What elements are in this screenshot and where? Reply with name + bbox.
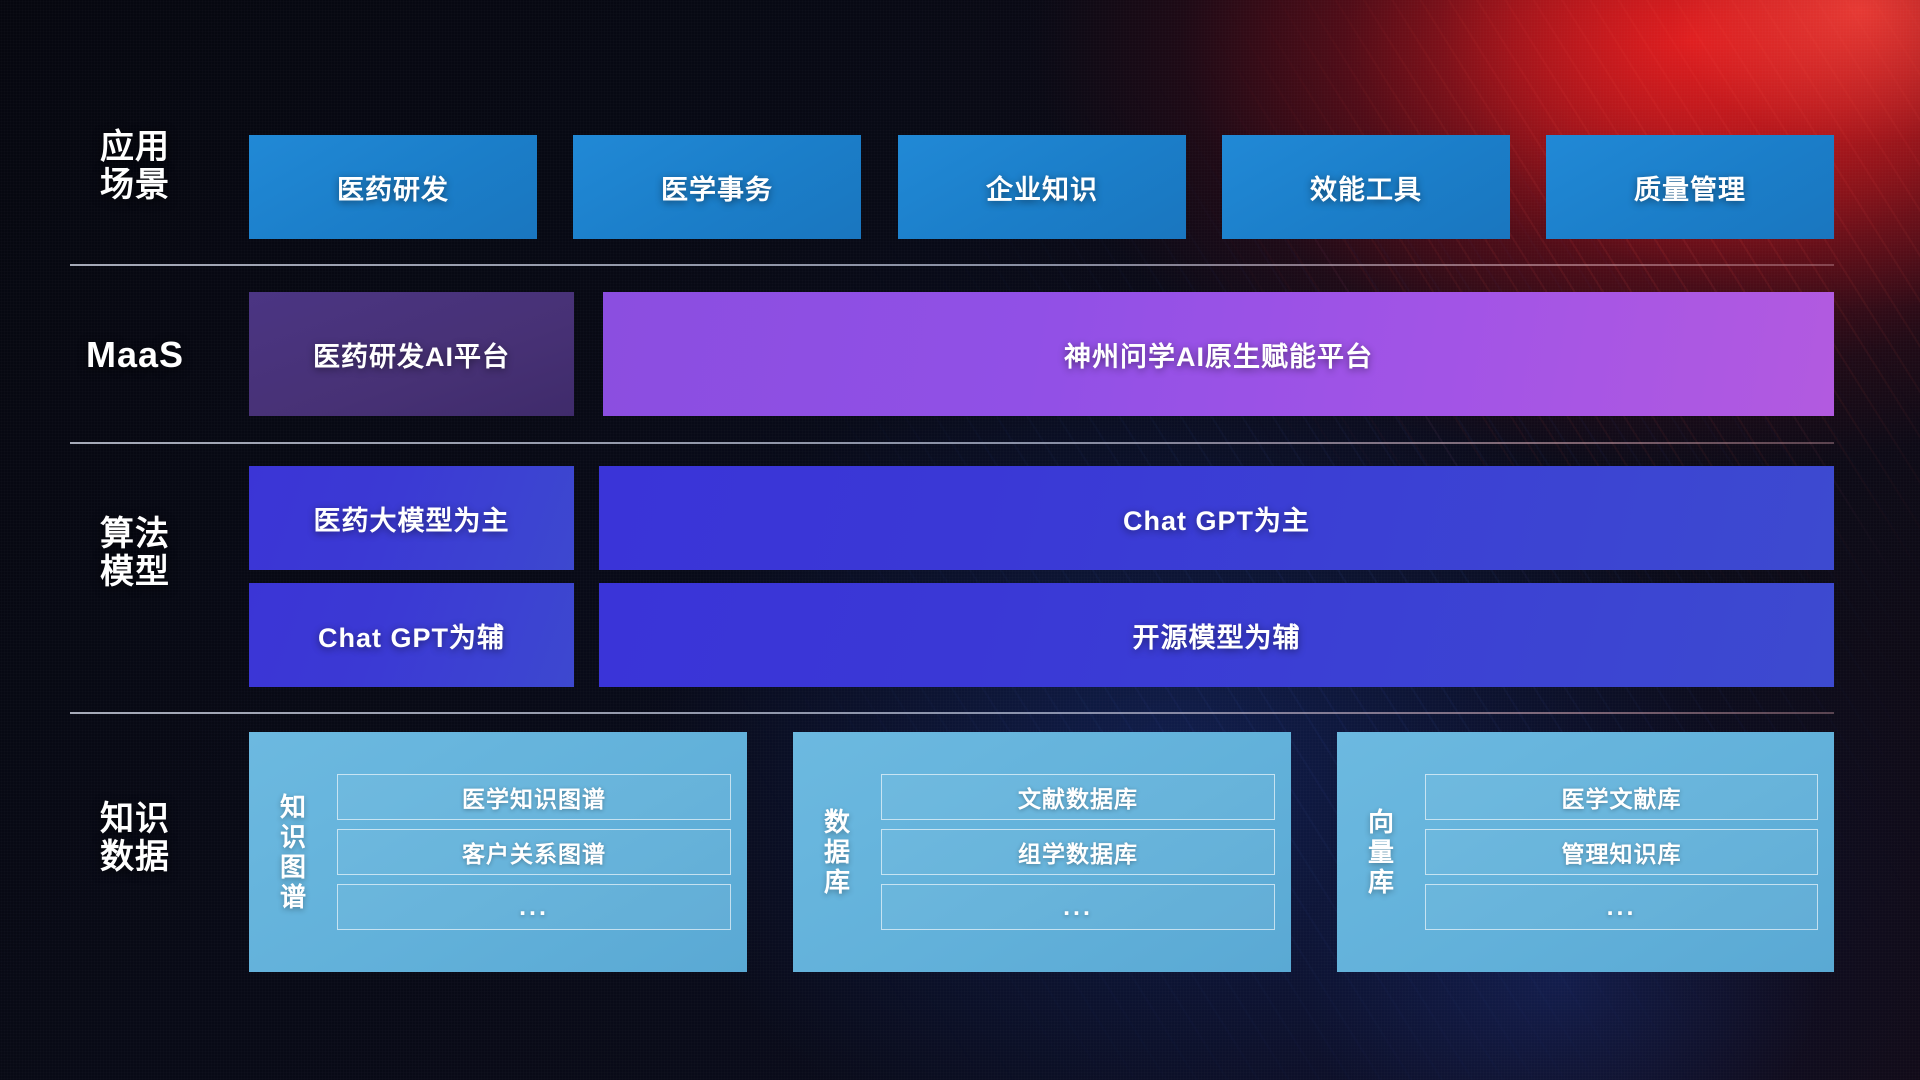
- knowledge-group-label: 知 识 图 谱: [249, 792, 337, 913]
- knowledge-item[interactable]: 组学数据库: [881, 829, 1275, 875]
- knowledge-group-label-line: 库: [793, 867, 881, 897]
- maas-left-platform-label: 医药研发AI平台: [313, 335, 510, 374]
- knowledge-item[interactable]: 医学文献库: [1425, 774, 1818, 820]
- algo-label: 医药大模型为主: [314, 499, 510, 538]
- app-scenario-label: 企业知识: [986, 168, 1098, 207]
- knowledge-group-label-line: 识: [249, 822, 337, 852]
- algo-row2-right-box[interactable]: 开源模型为辅: [599, 583, 1834, 687]
- tier-label-line: 应用: [70, 128, 200, 166]
- divider-1: [70, 264, 1834, 266]
- algo-label: Chat GPT为辅: [318, 616, 505, 655]
- knowledge-group-label-line: 据: [793, 837, 881, 867]
- architecture-diagram: 应用 场景 医药研发 医学事务 企业知识 效能工具 质量管理 MaaS 医药研发…: [0, 0, 1920, 1080]
- app-scenario-box-1[interactable]: 医药研发: [249, 135, 537, 239]
- knowledge-item[interactable]: 医学知识图谱: [337, 774, 731, 820]
- knowledge-group-label-line: 谱: [249, 882, 337, 912]
- knowledge-item[interactable]: 客户关系图谱: [337, 829, 731, 875]
- tier-label-application-scenarios: 应用 场景: [70, 128, 200, 204]
- tier-label-maas: MaaS: [70, 335, 200, 375]
- app-scenario-box-4[interactable]: 效能工具: [1222, 135, 1510, 239]
- knowledge-item[interactable]: 文献数据库: [881, 774, 1275, 820]
- app-scenario-label: 质量管理: [1634, 168, 1746, 207]
- maas-main-platform-label: 神州问学AI原生赋能平台: [1064, 335, 1373, 374]
- app-scenario-box-2[interactable]: 医学事务: [573, 135, 861, 239]
- divider-2: [70, 442, 1834, 444]
- knowledge-group-database[interactable]: 数 据 库 文献数据库 组学数据库 ...: [793, 732, 1291, 972]
- app-scenario-label: 效能工具: [1310, 168, 1422, 207]
- app-scenario-box-5[interactable]: 质量管理: [1546, 135, 1834, 239]
- tier-label-line: 数据: [70, 838, 200, 876]
- app-scenario-box-3[interactable]: 企业知识: [898, 135, 1186, 239]
- tier-label-knowledge-data: 知识 数据: [70, 800, 200, 876]
- knowledge-group-label-line: 库: [1337, 867, 1425, 897]
- divider-3: [70, 712, 1834, 714]
- algo-row1-right-box[interactable]: Chat GPT为主: [599, 466, 1834, 570]
- knowledge-group-label-line: 知: [249, 792, 337, 822]
- tier-label-line: 算法: [70, 515, 200, 553]
- knowledge-group-label: 向 量 库: [1337, 807, 1425, 897]
- maas-left-platform-box[interactable]: 医药研发AI平台: [249, 292, 574, 416]
- knowledge-group-label-line: 量: [1337, 837, 1425, 867]
- knowledge-group-items: 文献数据库 组学数据库 ...: [881, 774, 1279, 930]
- knowledge-item-more[interactable]: ...: [337, 884, 731, 930]
- tier-label-line: 场景: [70, 166, 200, 204]
- tier-label-algorithm-models: 算法 模型: [70, 515, 200, 591]
- algo-label: Chat GPT为主: [1123, 499, 1310, 538]
- knowledge-group-items: 医学知识图谱 客户关系图谱 ...: [337, 774, 735, 930]
- maas-main-platform-box[interactable]: 神州问学AI原生赋能平台: [603, 292, 1834, 416]
- algo-row1-left-box[interactable]: 医药大模型为主: [249, 466, 574, 570]
- knowledge-group-label: 数 据 库: [793, 807, 881, 897]
- knowledge-item[interactable]: 管理知识库: [1425, 829, 1818, 875]
- tier-label-line: 知识: [70, 800, 200, 838]
- knowledge-group-label-line: 向: [1337, 807, 1425, 837]
- knowledge-group-label-line: 数: [793, 807, 881, 837]
- knowledge-group-knowledge-graph[interactable]: 知 识 图 谱 医学知识图谱 客户关系图谱 ...: [249, 732, 747, 972]
- app-scenario-label: 医药研发: [337, 168, 449, 207]
- tier-label-line: MaaS: [70, 335, 200, 375]
- knowledge-group-vector-database[interactable]: 向 量 库 医学文献库 管理知识库 ...: [1337, 732, 1834, 972]
- tier-label-line: 模型: [70, 553, 200, 591]
- knowledge-group-label-line: 图: [249, 852, 337, 882]
- algo-row2-left-box[interactable]: Chat GPT为辅: [249, 583, 574, 687]
- algo-label: 开源模型为辅: [1133, 616, 1301, 655]
- knowledge-group-items: 医学文献库 管理知识库 ...: [1425, 774, 1822, 930]
- knowledge-item-more[interactable]: ...: [881, 884, 1275, 930]
- knowledge-item-more[interactable]: ...: [1425, 884, 1818, 930]
- app-scenario-label: 医学事务: [661, 168, 773, 207]
